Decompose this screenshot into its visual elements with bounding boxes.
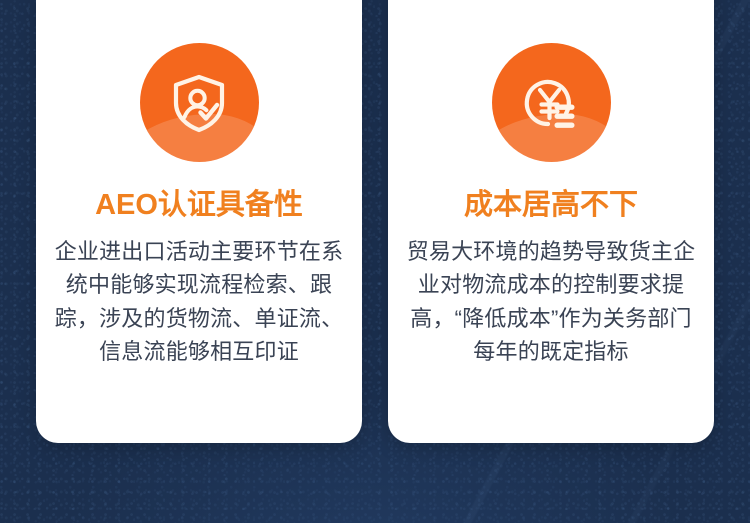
icon-glyph bbox=[140, 43, 259, 162]
card-body-text: 企业进出口活动主要环节在系统中能够实现流程检索、跟踪，涉及的货物流、单证流、信息… bbox=[54, 235, 344, 369]
card-title: AEO认证具备性 bbox=[95, 190, 303, 222]
card-body-text: 贸易大环境的趋势导致货主企业对物流成本的控制要求提高，“降低成本”作为关务部门每… bbox=[406, 235, 696, 369]
feature-card-aeo[interactable]: AEO认证具备性 企业进出口活动主要环节在系统中能够实现流程检索、跟踪，涉及的货… bbox=[36, 0, 362, 443]
promo-banner: AEO认证具备性 企业进出口活动主要环节在系统中能够实现流程检索、跟踪，涉及的货… bbox=[0, 0, 750, 523]
shield-person-check-icon bbox=[140, 43, 259, 162]
card-title: 成本居高不下 bbox=[464, 190, 638, 222]
feature-card-cost[interactable]: 成本居高不下 贸易大环境的趋势导致货主企业对物流成本的控制要求提高，“降低成本”… bbox=[388, 0, 714, 443]
yuan-coin-stack-icon bbox=[492, 43, 611, 162]
icon-glyph bbox=[492, 43, 611, 162]
feature-card-list: AEO认证具备性 企业进出口活动主要环节在系统中能够实现流程检索、跟踪，涉及的货… bbox=[36, 0, 714, 443]
